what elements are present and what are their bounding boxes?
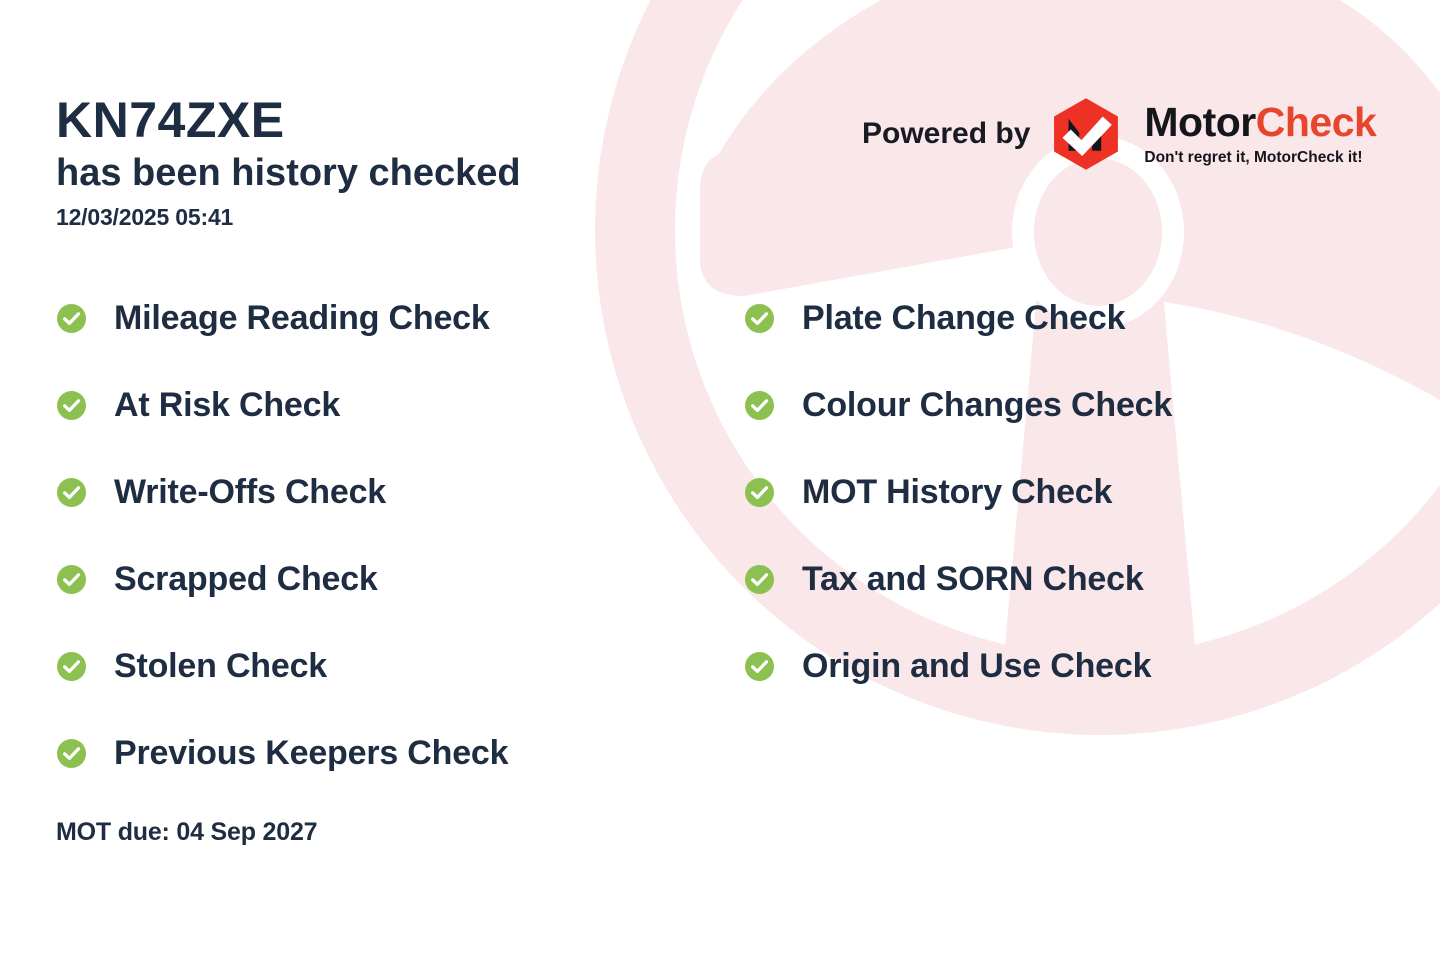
check-label: Plate Change Check [802,301,1125,335]
card-header: KN74ZXE has been history checked 12/03/2… [56,94,756,231]
check-item-origin-and-use: Origin and Use Check [744,644,1404,688]
green-check-circle-icon [744,564,775,595]
check-item-mot-history: MOT History Check [744,470,1404,514]
green-check-circle-icon [56,651,87,682]
check-item-mileage-reading: Mileage Reading Check [56,296,716,340]
green-check-circle-icon [56,390,87,421]
check-label: Write-Offs Check [114,475,386,509]
check-label: Mileage Reading Check [114,301,490,335]
history-check-card: KN74ZXE has been history checked 12/03/2… [0,0,1440,960]
brand-tagline: Don't regret it, MotorCheck it! [1144,150,1376,166]
green-check-circle-icon [56,564,87,595]
green-check-circle-icon [744,390,775,421]
brand-name-check: Check [1256,99,1377,145]
check-item-previous-keepers: Previous Keepers Check [56,731,716,775]
green-check-circle-icon [56,477,87,508]
check-item-stolen: Stolen Check [56,644,716,688]
check-item-colour-changes: Colour Changes Check [744,383,1404,427]
check-label: Previous Keepers Check [114,736,508,770]
check-label: Tax and SORN Check [802,562,1144,596]
check-item-write-offs: Write-Offs Check [56,470,716,514]
check-label: Colour Changes Check [802,388,1172,422]
history-checked-subtitle: has been history checked [56,151,756,196]
check-label: Origin and Use Check [802,649,1151,683]
checks-left-column: Mileage Reading Check At Risk Check Writ… [56,296,716,818]
check-item-tax-and-sorn: Tax and SORN Check [744,557,1404,601]
vehicle-registration-title: KN74ZXE [56,94,756,147]
check-item-at-risk: At Risk Check [56,383,716,427]
green-check-circle-icon [744,303,775,334]
green-check-circle-icon [56,738,87,769]
green-check-circle-icon [56,303,87,334]
motorcheck-wordmark: MotorCheck Don't regret it, MotorCheck i… [1144,102,1376,166]
powered-by-motorcheck: Powered by MotorCheck Don't regret it, M… [862,96,1376,172]
check-label: At Risk Check [114,388,340,422]
checks-right-column: Plate Change Check Colour Changes Check … [744,296,1404,731]
powered-by-label: Powered by [862,117,1030,151]
brand-name-motor: Motor [1144,99,1255,145]
check-label: MOT History Check [802,475,1112,509]
wheel-hub-inner [1034,158,1162,306]
motorcheck-hexagon-logo-icon [1048,96,1124,172]
check-item-scrapped: Scrapped Check [56,557,716,601]
green-check-circle-icon [744,651,775,682]
check-item-plate-change: Plate Change Check [744,296,1404,340]
mot-due-text: MOT due: 04 Sep 2027 [56,818,317,847]
check-label: Scrapped Check [114,562,378,596]
check-label: Stolen Check [114,649,327,683]
check-timestamp: 12/03/2025 05:41 [56,204,756,231]
green-check-circle-icon [744,477,775,508]
